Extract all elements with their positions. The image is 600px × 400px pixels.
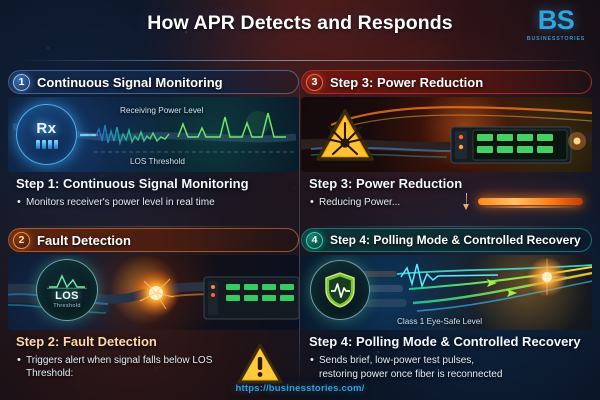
footer: https://businesstories.com/ [0, 378, 600, 396]
logo-monogram: BS [523, 8, 589, 34]
eye-safe-shield-disc [310, 260, 370, 320]
los-label: LOS [55, 290, 79, 302]
los-threshold-disc: LOS Threshold [36, 259, 98, 321]
rx-label: Rx [36, 120, 56, 137]
power-reduction-bar-graphic [458, 193, 586, 213]
panel-3-body: Step 3: Power Reduction Reducing Power..… [301, 177, 592, 209]
panel-3-illustration [301, 97, 592, 172]
panel-2-body: Step 2: Fault Detection Triggers alert w… [8, 335, 299, 380]
power-down-arrow-icon [463, 204, 469, 210]
panel-3-header: 3 Step 3: Power Reduction [301, 70, 592, 94]
panel-4-header: 4 Step 4: Polling Mode & Controlled Reco… [301, 228, 592, 252]
rx-module-disc: Rx [16, 104, 77, 165]
logo-wordmark: BUSINESSTORIES [523, 36, 589, 42]
list-item: Monitors receiver's power level in real … [16, 196, 293, 209]
page-title: How APR Detects and Responds [0, 12, 600, 35]
infographic-canvas: How APR Detects and Responds BS BUSINESS… [0, 0, 600, 400]
shield-icon [324, 272, 356, 308]
step-badge-1: 1 [13, 74, 30, 91]
los-sublabel: Threshold [53, 303, 81, 309]
panel-2-header-label: Fault Detection [37, 233, 131, 248]
step-4-title: Step 4: Polling Mode & Controlled Recove… [309, 335, 586, 350]
panel-step-1[interactable]: 1 Continuous Signal Monitoring [8, 70, 299, 228]
panel-1-illustration: Rx Receiving Power Level LOS Threshold [8, 97, 299, 172]
footer-url-link[interactable]: https://businesstories.com/ [236, 383, 365, 394]
panel-1-header: 1 Continuous Signal Monitoring [8, 70, 299, 94]
panel-step-3[interactable]: 3 Step 3: Power Reduction [301, 70, 592, 228]
power-bar-fill [478, 198, 583, 205]
caption-receiving-power-level: Receiving Power Level [120, 106, 203, 115]
panel-4-body: Step 4: Polling Mode & Controlled Recove… [301, 335, 592, 381]
list-item: Triggers alert when signal falls below L… [16, 354, 224, 380]
panel-step-4[interactable]: 4 Step 4: Polling Mode & Controlled Reco… [301, 228, 592, 386]
laser-hazard-triangle-icon [315, 109, 375, 163]
caption-los-threshold: LOS Threshold [130, 157, 185, 166]
los-waveform-icon [47, 272, 87, 289]
rx-signal-bars [36, 140, 58, 149]
panel-1-body: Step 1: Continuous Signal Monitoring Mon… [8, 177, 299, 209]
step-badge-2: 2 [13, 232, 30, 249]
header-divider [18, 60, 582, 61]
list-item: Sends brief, low-power test pulses, [309, 354, 586, 367]
panel-2-illustration: LOS Threshold [8, 255, 299, 330]
caption-class-1-eye-safe: Class 1 Eye-Safe Level [397, 317, 482, 326]
step-1-title: Step 1: Continuous Signal Monitoring [16, 177, 293, 192]
panel-2-header: 2 Fault Detection [8, 228, 299, 252]
panel-3-header-label: Step 3: Power Reduction [330, 75, 483, 90]
panel-4-header-label: Step 4: Polling Mode & Controlled Recove… [330, 233, 581, 247]
header: How APR Detects and Responds BS BUSINESS… [0, 0, 600, 62]
vertical-divider [299, 68, 300, 388]
panel-1-header-label: Continuous Signal Monitoring [37, 75, 223, 90]
step-badge-3: 3 [306, 74, 323, 91]
step-1-bullets: Monitors receiver's power level in real … [16, 196, 293, 209]
panel-step-2[interactable]: 2 Fault Detection [8, 228, 299, 386]
panel-4-illustration: Class 1 Eye-Safe Level [301, 255, 592, 330]
step-badge-4: 4 [306, 232, 323, 249]
power-bar-reflection [480, 206, 576, 208]
brand-logo: BS BUSINESSTORIES [523, 8, 589, 42]
step-3-title: Step 3: Power Reduction [309, 177, 586, 192]
